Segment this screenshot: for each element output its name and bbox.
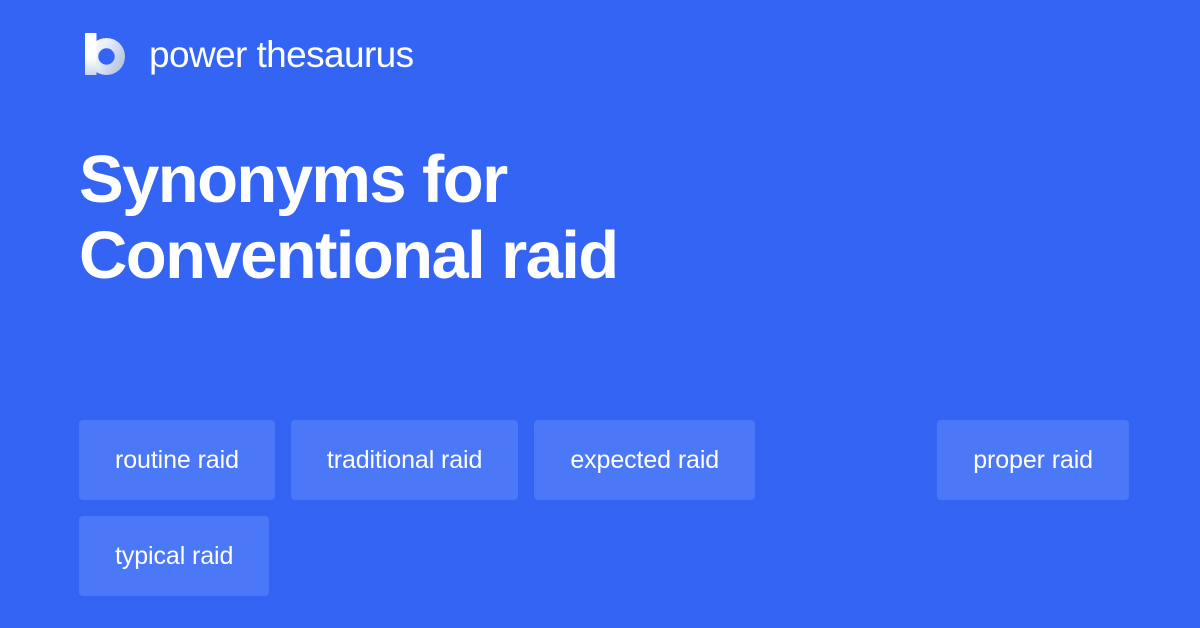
synonym-chip[interactable]: typical raid [79,516,269,596]
synonym-chip[interactable]: routine raid [79,420,275,500]
brand-name: power thesaurus [149,36,414,73]
share-card: power thesaurus Synonyms for Conventiona… [0,0,1200,628]
synonym-chip[interactable]: proper raid [937,420,1129,500]
synonym-list: routine raidtraditional raidexpected rai… [79,420,1129,596]
synonym-chip[interactable]: traditional raid [291,420,518,500]
page-title: Synonyms for Conventional raid [79,142,1119,295]
brand-header[interactable]: power thesaurus [79,28,414,80]
page-title-line-1: Synonyms for [79,142,1119,218]
synonym-chip[interactable]: expected raid [534,420,755,500]
power-thesaurus-logo-icon [79,29,129,79]
page-title-line-2: Conventional raid [79,218,1119,294]
